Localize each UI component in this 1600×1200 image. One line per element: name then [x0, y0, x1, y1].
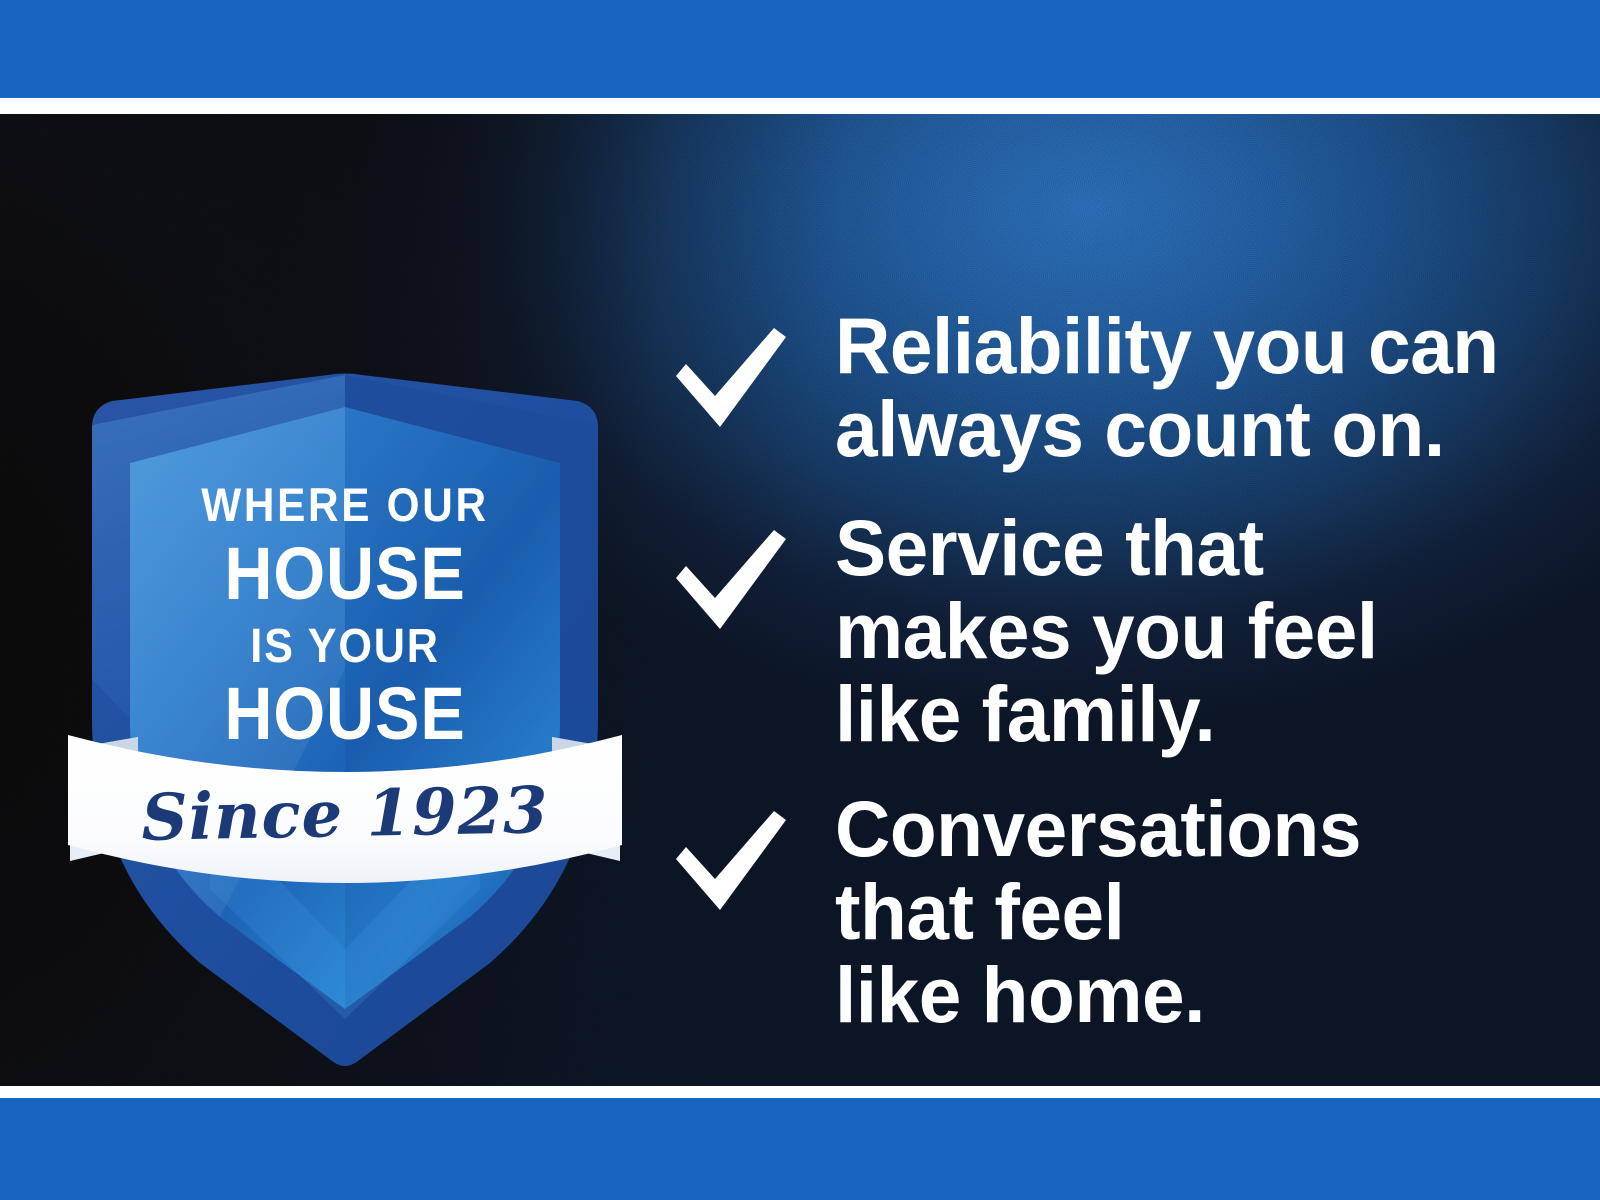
- check-icon: [670, 528, 790, 638]
- claim-item-conversations: Conversations that feel like home.: [670, 787, 1550, 1036]
- claim-text: Service that makes you feel like family.: [835, 506, 1529, 755]
- claim-item-service: Service that makes you feel like family.: [670, 506, 1550, 755]
- promo-poster: WHERE OUR HOUSE IS YOUR HOUSE Since 1923…: [0, 0, 1600, 1200]
- claim-text: Conversations that feel like home.: [835, 787, 1529, 1036]
- claim-text: Reliability you can always count on.: [835, 304, 1529, 470]
- check-icon: [670, 809, 790, 919]
- claims-list: Reliability you can always count on. Ser…: [670, 304, 1550, 1036]
- bottom-brand-bar: [0, 1098, 1600, 1200]
- claim-item-reliability: Reliability you can always count on.: [670, 304, 1550, 470]
- poster-stage: WHERE OUR HOUSE IS YOUR HOUSE Since 1923…: [0, 114, 1600, 1086]
- shield-badge: WHERE OUR HOUSE IS YOUR HOUSE Since 1923: [60, 249, 630, 1079]
- top-brand-bar: [0, 0, 1600, 98]
- check-icon: [670, 326, 790, 436]
